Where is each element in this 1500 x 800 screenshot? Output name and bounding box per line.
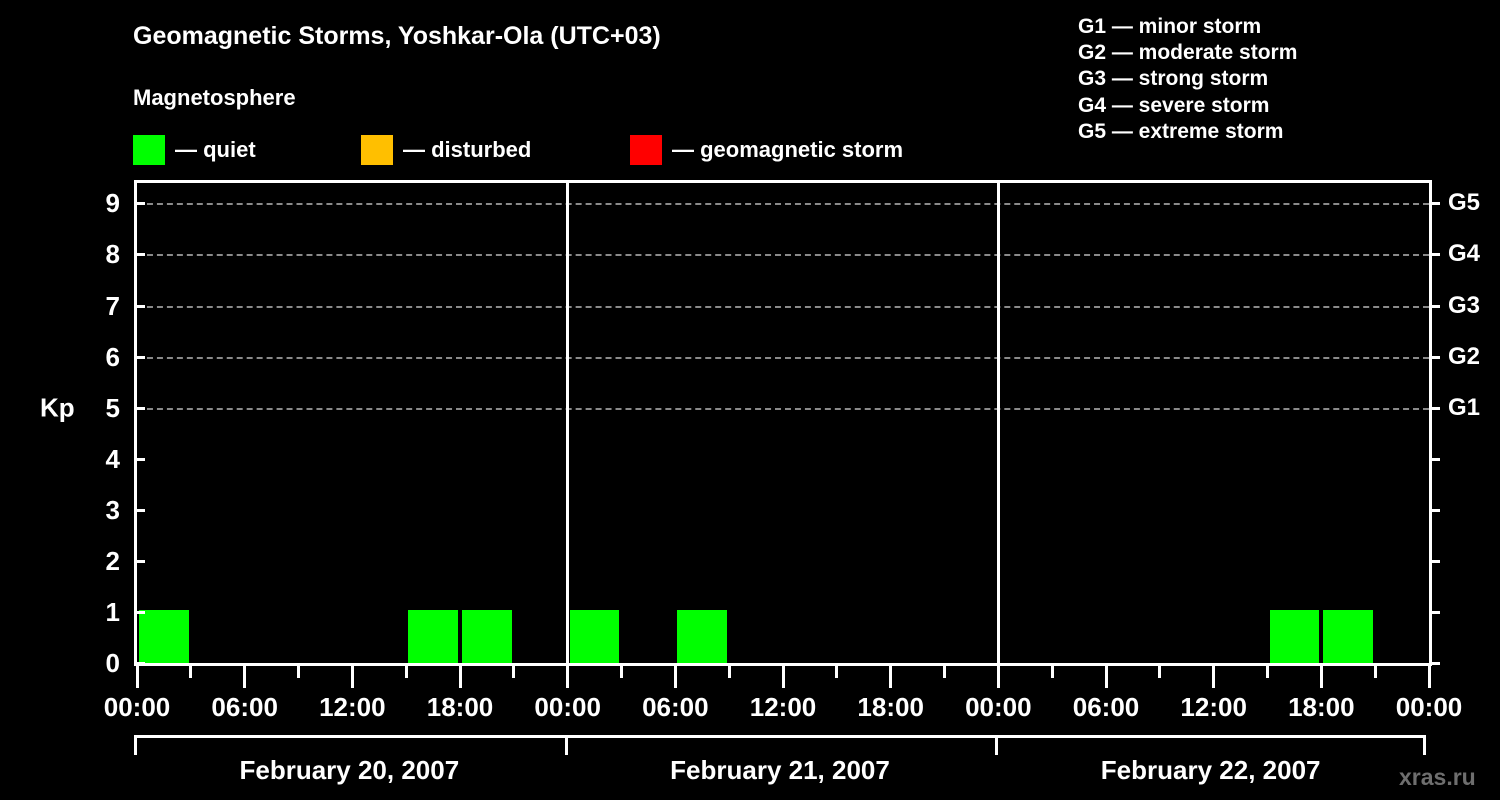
y-tick-label-2: 2 xyxy=(86,548,120,574)
y-tick-label-9: 9 xyxy=(86,190,120,216)
storm-scale-line-5: G5 — extreme storm xyxy=(1078,119,1297,145)
x-tick-mark-6 xyxy=(459,666,462,688)
x-tick-mark-15 xyxy=(943,666,946,678)
day-bracket-tick-0 xyxy=(134,735,137,755)
day-bracket-bar-1 xyxy=(134,735,565,738)
y-tick-label-0: 0 xyxy=(86,650,120,676)
x-tick-mark-22 xyxy=(1320,666,1323,688)
x-tick-mark-5 xyxy=(405,666,408,678)
storm-scale-line-2: G2 — moderate storm xyxy=(1078,40,1297,66)
x-tick-mark-8 xyxy=(566,666,569,688)
y-tick-mark-right-5 xyxy=(1429,407,1440,410)
y-tick-mark-right-1 xyxy=(1429,611,1440,614)
x-tick-label-4: 00:00 xyxy=(534,692,601,723)
x-tick-label-12: 00:00 xyxy=(1396,692,1463,723)
x-tick-mark-20 xyxy=(1212,666,1215,688)
x-tick-mark-14 xyxy=(889,666,892,688)
storm-scale-line-3: G3 — strong storm xyxy=(1078,66,1297,92)
legend-swatch-quiet-icon xyxy=(133,135,165,165)
legend-entry-geomagnetic-storm: — geomagnetic storm xyxy=(630,133,903,167)
storm-scale-line-1: G1 — minor storm xyxy=(1078,14,1297,40)
y-tick-mark-1 xyxy=(134,611,145,614)
gridline-kp-6 xyxy=(137,357,1429,359)
x-tick-mark-16 xyxy=(997,666,1000,688)
legend-label-quiet: — quiet xyxy=(175,139,256,161)
y-tick-mark-right-2 xyxy=(1429,560,1440,563)
x-tick-mark-0 xyxy=(136,666,139,688)
y-tick-mark-8 xyxy=(134,253,145,256)
bar-day1-15:00 xyxy=(408,610,458,663)
y-tick-mark-right-3 xyxy=(1429,509,1440,512)
gridline-kp-8 xyxy=(137,254,1429,256)
x-tick-label-9: 06:00 xyxy=(1073,692,1140,723)
x-tick-mark-4 xyxy=(351,666,354,688)
gridline-kp-7 xyxy=(137,306,1429,308)
geomagnetic-storm-chart: Geomagnetic Storms, Yoshkar-Ola (UTC+03)… xyxy=(0,0,1500,800)
y-tick-mark-right-6 xyxy=(1429,356,1440,359)
gridline-kp-5 xyxy=(137,408,1429,410)
watermark: xras.ru xyxy=(1399,764,1476,791)
x-tick-mark-17 xyxy=(1051,666,1054,678)
x-tick-label-8: 00:00 xyxy=(965,692,1032,723)
y-tick-label-3: 3 xyxy=(86,497,120,523)
y-tick-label-7: 7 xyxy=(86,293,120,319)
bar-day2-00:00 xyxy=(570,610,620,663)
y-tick-label-5: 5 xyxy=(86,395,120,421)
x-tick-label-3: 18:00 xyxy=(427,692,494,723)
x-tick-label-2: 12:00 xyxy=(319,692,386,723)
bar-day1-18:00 xyxy=(462,610,512,663)
storm-scale-legend: G1 — minor stormG2 — moderate stormG3 — … xyxy=(1078,14,1297,145)
y-tick-mark-7 xyxy=(134,305,145,308)
y-tick-mark-4 xyxy=(134,458,145,461)
y-tick-mark-3 xyxy=(134,509,145,512)
y-tick-mark-right-7 xyxy=(1429,305,1440,308)
y-tick-label-4: 4 xyxy=(86,446,120,472)
g-tick-label-G4: G4 xyxy=(1448,240,1480,268)
x-tick-mark-23 xyxy=(1374,666,1377,678)
y-tick-mark-right-0 xyxy=(1429,662,1440,665)
x-tick-mark-21 xyxy=(1266,666,1269,678)
y-axis-labels: 0123456789 xyxy=(80,180,120,666)
y-tick-label-1: 1 xyxy=(86,599,120,625)
x-tick-mark-12 xyxy=(782,666,785,688)
y-tick-mark-6 xyxy=(134,356,145,359)
x-tick-label-10: 12:00 xyxy=(1180,692,1247,723)
x-tick-mark-3 xyxy=(297,666,300,678)
x-tick-mark-13 xyxy=(835,666,838,678)
g-tick-label-G5: G5 xyxy=(1448,189,1480,217)
bar-day2-06:00 xyxy=(677,610,727,663)
day-label-2: February 21, 2007 xyxy=(670,755,890,786)
legend-label-geomagnetic-storm: — geomagnetic storm xyxy=(672,139,903,161)
day-bracket-tick-2 xyxy=(995,735,998,755)
y-tick-mark-2 xyxy=(134,560,145,563)
g-tick-label-G1: G1 xyxy=(1448,394,1480,422)
y-tick-mark-5 xyxy=(134,407,145,410)
x-tick-label-0: 00:00 xyxy=(104,692,171,723)
day-bracket-tick-3 xyxy=(1423,735,1426,755)
g-tick-label-G2: G2 xyxy=(1448,343,1480,371)
y-tick-mark-right-4 xyxy=(1429,458,1440,461)
legend-swatch-disturbed-icon xyxy=(361,135,393,165)
x-tick-mark-11 xyxy=(728,666,731,678)
page-title: Geomagnetic Storms, Yoshkar-Ola (UTC+03) xyxy=(133,22,661,51)
plot-area xyxy=(137,183,1429,663)
x-tick-mark-7 xyxy=(512,666,515,678)
x-tick-mark-1 xyxy=(189,666,192,678)
storm-scale-line-4: G4 — severe storm xyxy=(1078,93,1297,119)
bar-day1-00:00 xyxy=(139,610,189,663)
bar-day3-18:00 xyxy=(1323,610,1373,663)
day-bracket-bar-2 xyxy=(565,735,996,738)
legend-swatch-geomagnetic-storm-icon xyxy=(630,135,662,165)
legend-label-disturbed: — disturbed xyxy=(403,139,531,161)
g-tick-label-G3: G3 xyxy=(1448,292,1480,320)
y-tick-mark-0 xyxy=(134,662,145,665)
x-tick-mark-2 xyxy=(243,666,246,688)
x-tick-label-1: 06:00 xyxy=(211,692,278,723)
day-label-3: February 22, 2007 xyxy=(1101,755,1321,786)
legend-entry-disturbed: — disturbed xyxy=(361,133,531,167)
x-tick-label-7: 18:00 xyxy=(857,692,924,723)
x-tick-label-5: 06:00 xyxy=(642,692,709,723)
y-axis-title: Kp xyxy=(40,393,75,424)
x-tick-mark-10 xyxy=(674,666,677,688)
day-brackets xyxy=(134,735,1432,755)
x-tick-label-6: 12:00 xyxy=(750,692,817,723)
x-tick-mark-9 xyxy=(620,666,623,678)
day-bracket-bar-3 xyxy=(995,735,1426,738)
x-tick-mark-19 xyxy=(1158,666,1161,678)
bar-day3-15:00 xyxy=(1270,610,1320,663)
day-divider-1 xyxy=(566,180,569,666)
gridline-kp-9 xyxy=(137,203,1429,205)
x-tick-mark-24 xyxy=(1428,666,1431,688)
day-divider-2 xyxy=(997,180,1000,666)
y-tick-label-6: 6 xyxy=(86,344,120,370)
y-tick-label-8: 8 xyxy=(86,241,120,267)
x-tick-label-11: 18:00 xyxy=(1288,692,1355,723)
day-bracket-tick-1 xyxy=(565,735,568,755)
y-tick-mark-right-9 xyxy=(1429,202,1440,205)
chart-subtitle: Magnetosphere xyxy=(133,85,296,111)
y-tick-mark-right-8 xyxy=(1429,253,1440,256)
legend-entry-quiet: — quiet xyxy=(133,133,256,167)
day-label-1: February 20, 2007 xyxy=(239,755,459,786)
x-tick-mark-18 xyxy=(1105,666,1108,688)
y-tick-mark-9 xyxy=(134,202,145,205)
